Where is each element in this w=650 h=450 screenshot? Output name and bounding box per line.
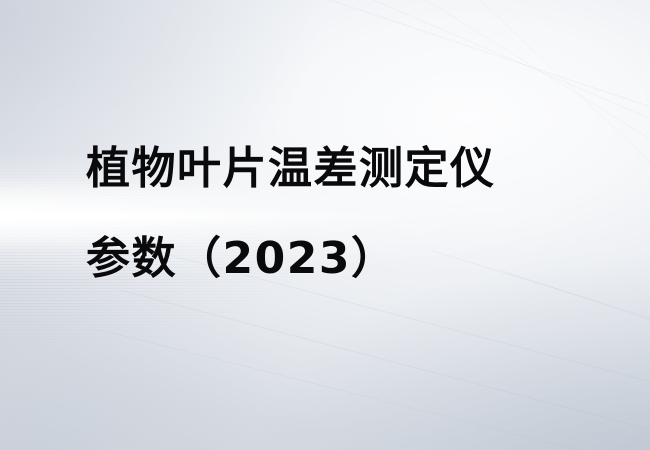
page-title: 植物叶片温差测定仪 参数（2023） [86, 124, 616, 304]
title-card: 植物叶片温差测定仪 参数（2023） [0, 0, 650, 450]
page-title-line-2: 参数（2023） [86, 214, 616, 304]
mesh-band-group-lower [0, 292, 269, 450]
page-title-line-1: 植物叶片温差测定仪 [86, 124, 616, 214]
